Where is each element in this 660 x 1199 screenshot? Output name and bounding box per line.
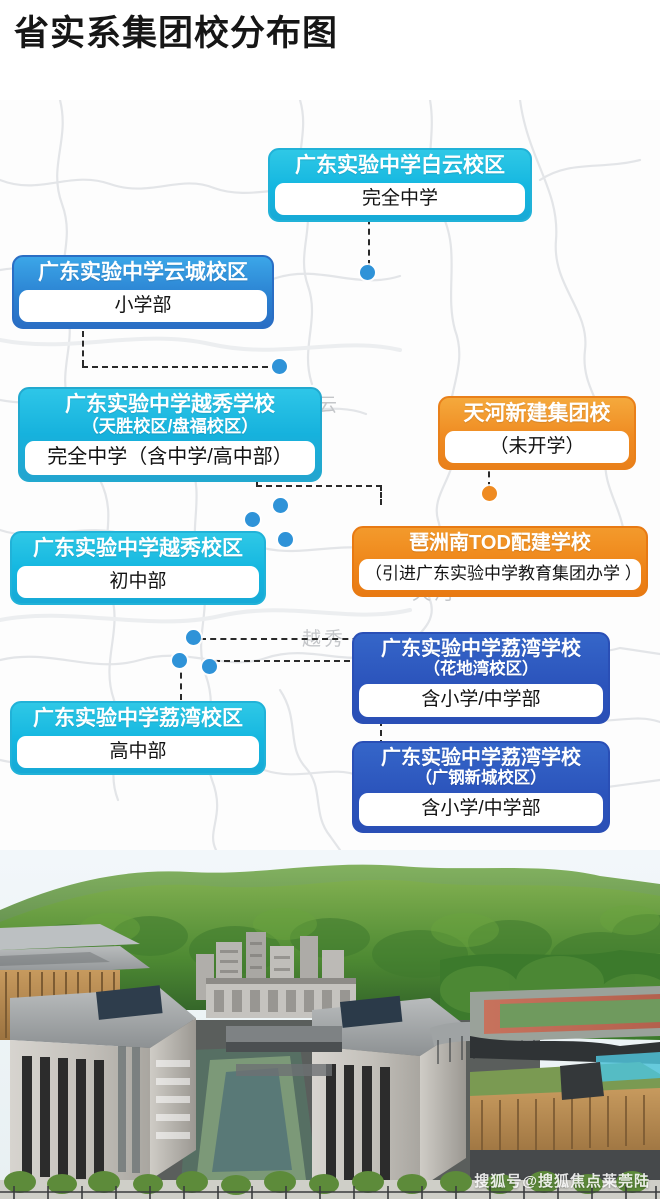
school-card-yuexiu-school-title-text: 广东实验中学越秀学校 xyxy=(65,393,275,416)
school-card-liwan-campus[interactable]: 广东实验中学荔湾校区 高中部 xyxy=(10,701,266,775)
school-card-tianhe-new-title: 天河新建集团校 xyxy=(440,398,634,431)
school-card-yuncheng-title: 广东实验中学云城校区 xyxy=(14,257,272,290)
map-marker-yuexiu-extra[interactable] xyxy=(278,532,293,547)
school-card-liwan-guanggang-subtitle: （广钢新城校区） xyxy=(364,769,598,787)
school-card-tianhe-new-title-text: 天河新建集团校 xyxy=(464,402,611,425)
school-card-yuncheng-title-text: 广东实验中学云城校区 xyxy=(38,261,248,284)
page-title: 省实系集团校分布图 xyxy=(14,16,338,51)
school-card-yuncheng[interactable]: 广东实验中学云城校区 小学部 xyxy=(12,255,274,329)
map-marker-baiyun[interactable] xyxy=(360,265,375,280)
map-marker-yuexiu-campus[interactable] xyxy=(245,512,260,527)
campus-photo-image xyxy=(0,850,660,1199)
watermark-text: 搜狐号@搜狐焦点莱莞陆 xyxy=(474,1170,650,1191)
school-card-liwan-huadiwan-subtitle: （花地湾校区） xyxy=(364,660,598,678)
school-card-liwan-campus-body: 高中部 xyxy=(17,736,259,769)
map-marker-yuncheng[interactable] xyxy=(272,359,287,374)
map-marker-yuexiu-school[interactable] xyxy=(273,498,288,513)
connector-yuexiu-s-h xyxy=(256,485,382,487)
map-marker-liwan-a[interactable] xyxy=(186,630,201,645)
school-card-baiyun-body: 完全中学 xyxy=(275,183,525,216)
school-card-yuexiu-campus-title-text: 广东实验中学越秀校区 xyxy=(33,537,243,560)
school-card-yuexiu-school-title: 广东实验中学越秀学校 （天胜校区/盘福校区） xyxy=(20,389,320,441)
map-marker-tianhe[interactable] xyxy=(482,486,497,501)
school-card-liwan-huadiwan-body: 含小学/中学部 xyxy=(359,684,603,717)
school-card-tianhe-new[interactable]: 天河新建集团校 （未开学） xyxy=(438,396,636,470)
school-card-yuexiu-campus[interactable]: 广东实验中学越秀校区 初中部 xyxy=(10,531,266,605)
school-card-liwan-campus-title-text: 广东实验中学荔湾校区 xyxy=(33,707,243,730)
school-card-baiyun-title: 广东实验中学白云校区 xyxy=(270,150,530,183)
school-card-yuncheng-body: 小学部 xyxy=(19,290,267,323)
school-card-liwan-campus-title: 广东实验中学荔湾校区 xyxy=(12,703,264,736)
school-card-pazhou-tod-body: （引进广东实验中学教育集团办学 ） xyxy=(359,559,641,590)
school-card-liwan-guanggang-body: 含小学/中学部 xyxy=(359,793,603,826)
school-card-liwan-huadiwan[interactable]: 广东实验中学荔湾学校 （花地湾校区） 含小学/中学部 xyxy=(352,632,610,724)
school-card-liwan-guanggang-title: 广东实验中学荔湾学校 （广钢新城校区） xyxy=(354,743,608,793)
school-card-pazhou-tod[interactable]: 琶洲南TOD配建学校 （引进广东实验中学教育集团办学 ） xyxy=(352,526,648,597)
poster-root: 省实系集团校分布图 xyxy=(0,0,660,1199)
connector-yuexiu-s-v2 xyxy=(380,485,382,505)
map-marker-liwan-c[interactable] xyxy=(202,659,217,674)
school-card-yuexiu-school-body: 完全中学（含中学/高中部） xyxy=(25,441,315,475)
school-card-pazhou-tod-title-text: 琶洲南TOD配建学校 xyxy=(409,532,591,554)
school-card-baiyun[interactable]: 广东实验中学白云校区 完全中学 xyxy=(268,148,532,222)
campus-photo: 搜狐号@搜狐焦点莱莞陆 xyxy=(0,850,660,1199)
connector-yuncheng-h xyxy=(82,366,278,368)
school-card-liwan-huadiwan-title: 广东实验中学荔湾学校 （花地湾校区） xyxy=(354,634,608,684)
school-card-baiyun-title-text: 广东实验中学白云校区 xyxy=(295,154,505,177)
school-card-liwan-guanggang-title-text: 广东实验中学荔湾学校 xyxy=(381,747,581,769)
map-marker-liwan-b[interactable] xyxy=(172,653,187,668)
school-card-liwan-guanggang[interactable]: 广东实验中学荔湾学校 （广钢新城校区） 含小学/中学部 xyxy=(352,741,610,833)
school-card-yuexiu-campus-title: 广东实验中学越秀校区 xyxy=(12,533,264,566)
school-card-liwan-huadiwan-title-text: 广东实验中学荔湾学校 xyxy=(381,638,581,660)
school-card-pazhou-tod-title: 琶洲南TOD配建学校 xyxy=(354,528,646,559)
school-card-yuexiu-school-subtitle: （天胜校区/盘福校区） xyxy=(30,417,310,436)
school-card-yuexiu-campus-body: 初中部 xyxy=(17,566,259,599)
school-card-yuexiu-school[interactable]: 广东实验中学越秀学校 （天胜校区/盘福校区） 完全中学（含中学/高中部） xyxy=(18,387,322,482)
school-card-tianhe-new-body: （未开学） xyxy=(445,431,629,464)
